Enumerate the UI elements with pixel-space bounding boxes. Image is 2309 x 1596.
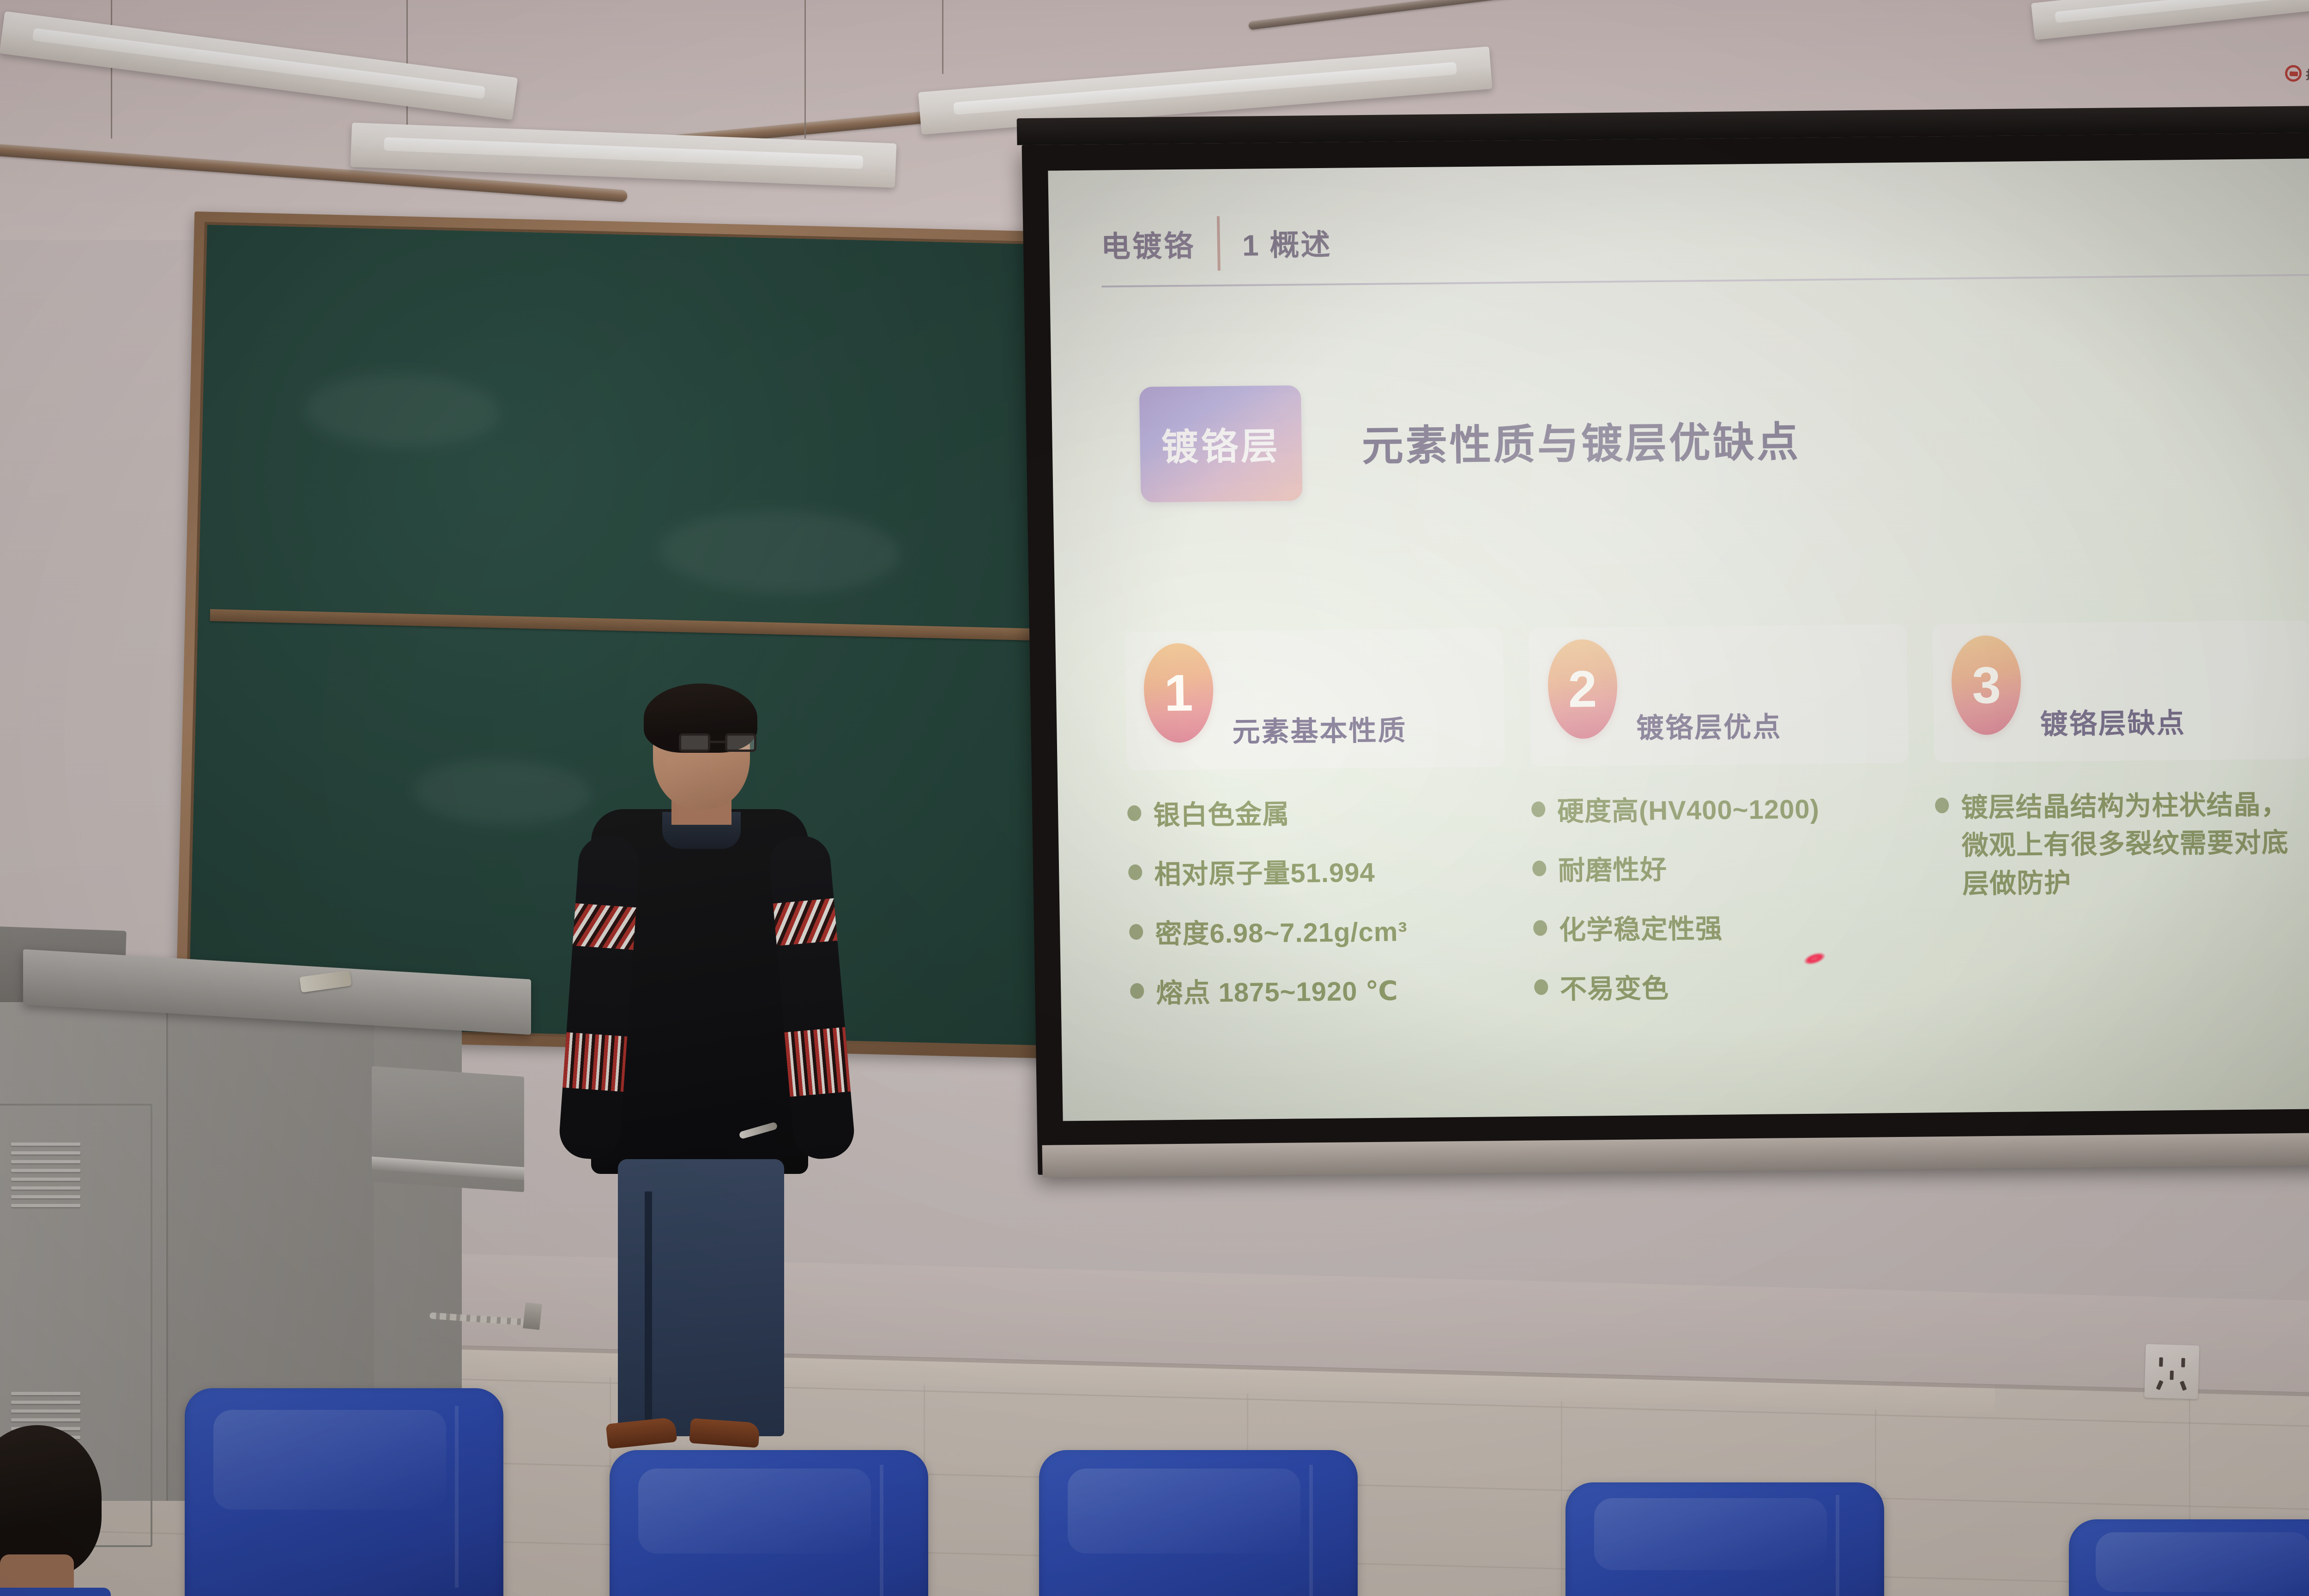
seat-3[interactable] [1039,1450,1358,1596]
bullet-text: 银白色金属 [1153,796,1290,835]
bullet-text: 硬度高(HV400~1200) [1557,791,1819,831]
slide-sections: 1 元素基本性质 银白色金属 相对原子量51.994 [1124,620,2309,1034]
section-2-bullets: 硬度高(HV400~1200) 耐磨性好 化学稳定性强 [1531,790,1912,1009]
list-item: 不易变色 [1534,967,1912,1009]
section-3-bullets: 镀层结晶结构为柱状结晶，微观上有很多裂纹需要对底层做防护 [1935,786,2309,903]
list-item: 熔点 1875~1920 ℃ [1130,971,1509,1013]
screen-brand-text: 投影幕 [2305,66,2309,84]
bullet-text: 化学稳定性强 [1559,910,1723,949]
list-item: 银白色金属 [1127,793,1506,835]
bullet-dot-icon [1531,801,1546,817]
list-item: 密度6.98~7.21g/cm³ [1129,912,1508,954]
classroom-scene: 电镀铬 1 概述 镀铬层 元素性质与镀层优缺点 [0,0,2309,1596]
section-1-label: 元素基本性质 [1232,708,1407,750]
chain-anchor [523,1302,542,1330]
slide-header: 电镀铬 1 概述 [1100,198,2309,279]
screen-brand-label: 投影幕 [2285,57,2309,94]
slide-section-2: 2 镀铬层优点 硬度高(HV400~1200) 耐磨性好 [1529,624,1913,1030]
list-item: 硬度高(HV400~1200) [1531,790,1910,831]
presenter-right-shoe [689,1418,760,1448]
slide-header-separator [1217,216,1221,271]
slide-section-1: 1 元素基本性质 银白色金属 相对原子量51.994 [1124,628,1509,1034]
section-3-label: 镀铬层缺点 [2040,701,2186,742]
blackboard-divider [210,609,1037,641]
slide-section-3: 3 镀铬层缺点 镀层结晶结构为柱状结晶，微观上有很多裂纹需要对底层做防护 [1932,620,2309,1026]
bullet-text: 耐磨性好 [1558,851,1667,890]
bullet-dot-icon [1129,924,1143,939]
projection-screen: 电镀铬 1 概述 镀铬层 元素性质与镀层优缺点 [1022,132,2309,1175]
seat-5[interactable] [2069,1519,2309,1596]
glasses-icon [679,733,756,754]
presenter-left-shoe [606,1417,677,1449]
page-title: 元素性质与镀层优缺点 [1361,408,1801,472]
section-2-header: 2 镀铬层优点 [1529,624,1909,767]
seat-4[interactable] [1566,1482,1884,1596]
slide-canvas: 电镀铬 1 概述 镀铬层 元素性质与镀层优缺点 [1048,158,2309,1121]
bullet-dot-icon [1127,805,1142,821]
seat-1[interactable] [185,1388,503,1596]
student-shirt [0,1588,111,1596]
section-1-number: 1 [1164,667,1193,719]
list-item: 化学稳定性强 [1533,908,1911,949]
section-3-number-badge: 3 [1951,635,2022,735]
power-outlet[interactable] [2144,1344,2199,1399]
bullet-dot-icon [1534,979,1548,995]
bullet-text: 镀层结晶结构为柱状结晶，微观上有很多裂纹需要对底层做防护 [1961,786,2309,903]
section-1-number-badge: 1 [1143,643,1214,743]
presenter-leg-gap [645,1191,652,1436]
section-3-number: 3 [1971,659,2001,711]
podium-vent-upper [11,1143,80,1213]
bullet-dot-icon [1128,864,1142,880]
tray-slide-rail [372,1156,524,1180]
section-2-label: 镀铬层优点 [1636,704,1782,746]
slide-title-badge: 镀铬层 [1139,385,1303,502]
podium-monitor-tray[interactable] [372,1066,524,1192]
bullet-text: 熔点 1875~1920 ℃ [1156,973,1399,1013]
bullet-text: 不易变色 [1559,970,1669,1009]
section-2-number: 2 [1568,663,1597,715]
bullet-text: 相对原子量51.994 [1154,854,1376,894]
bullet-text: 密度6.98~7.21g/cm³ [1155,913,1408,954]
lamp-wire-4 [942,0,943,74]
list-item: 耐磨性好 [1532,849,1910,890]
slide-title-badge-label: 镀铬层 [1161,417,1281,471]
red-circle-logo-icon [2285,65,2302,82]
presenter [562,683,849,1450]
screen-border: 电镀铬 1 概述 镀铬层 元素性质与镀层优缺点 [1022,132,2309,1175]
bullet-dot-icon [1533,920,1547,936]
slide-header-section: 1 概述 [1242,221,1332,265]
list-item: 相对原子量51.994 [1128,853,1507,895]
section-1-header: 1 元素基本性质 [1124,628,1505,770]
list-item: 镀层结晶结构为柱状结晶，微观上有很多裂纹需要对底层做防护 [1935,786,2309,903]
slide-title-row: 镀铬层 元素性质与镀层优缺点 [1139,381,1801,502]
presenter-legs [618,1159,784,1436]
section-3-header: 3 镀铬层缺点 [1932,620,2309,762]
bullet-dot-icon [1130,983,1144,999]
section-2-number-badge: 2 [1547,639,1618,739]
bullet-dot-icon [1532,861,1547,877]
lamp-wire-3 [804,0,806,139]
bullet-dot-icon [1935,798,1949,813]
lamp-wire-1 [111,0,112,139]
slide-header-tag: 电镀铬 [1100,223,1195,266]
section-1-bullets: 银白色金属 相对原子量51.994 密度6.98~7.21g/cm³ [1127,793,1509,1013]
seat-2[interactable] [610,1450,928,1596]
audience-student [0,1407,120,1596]
